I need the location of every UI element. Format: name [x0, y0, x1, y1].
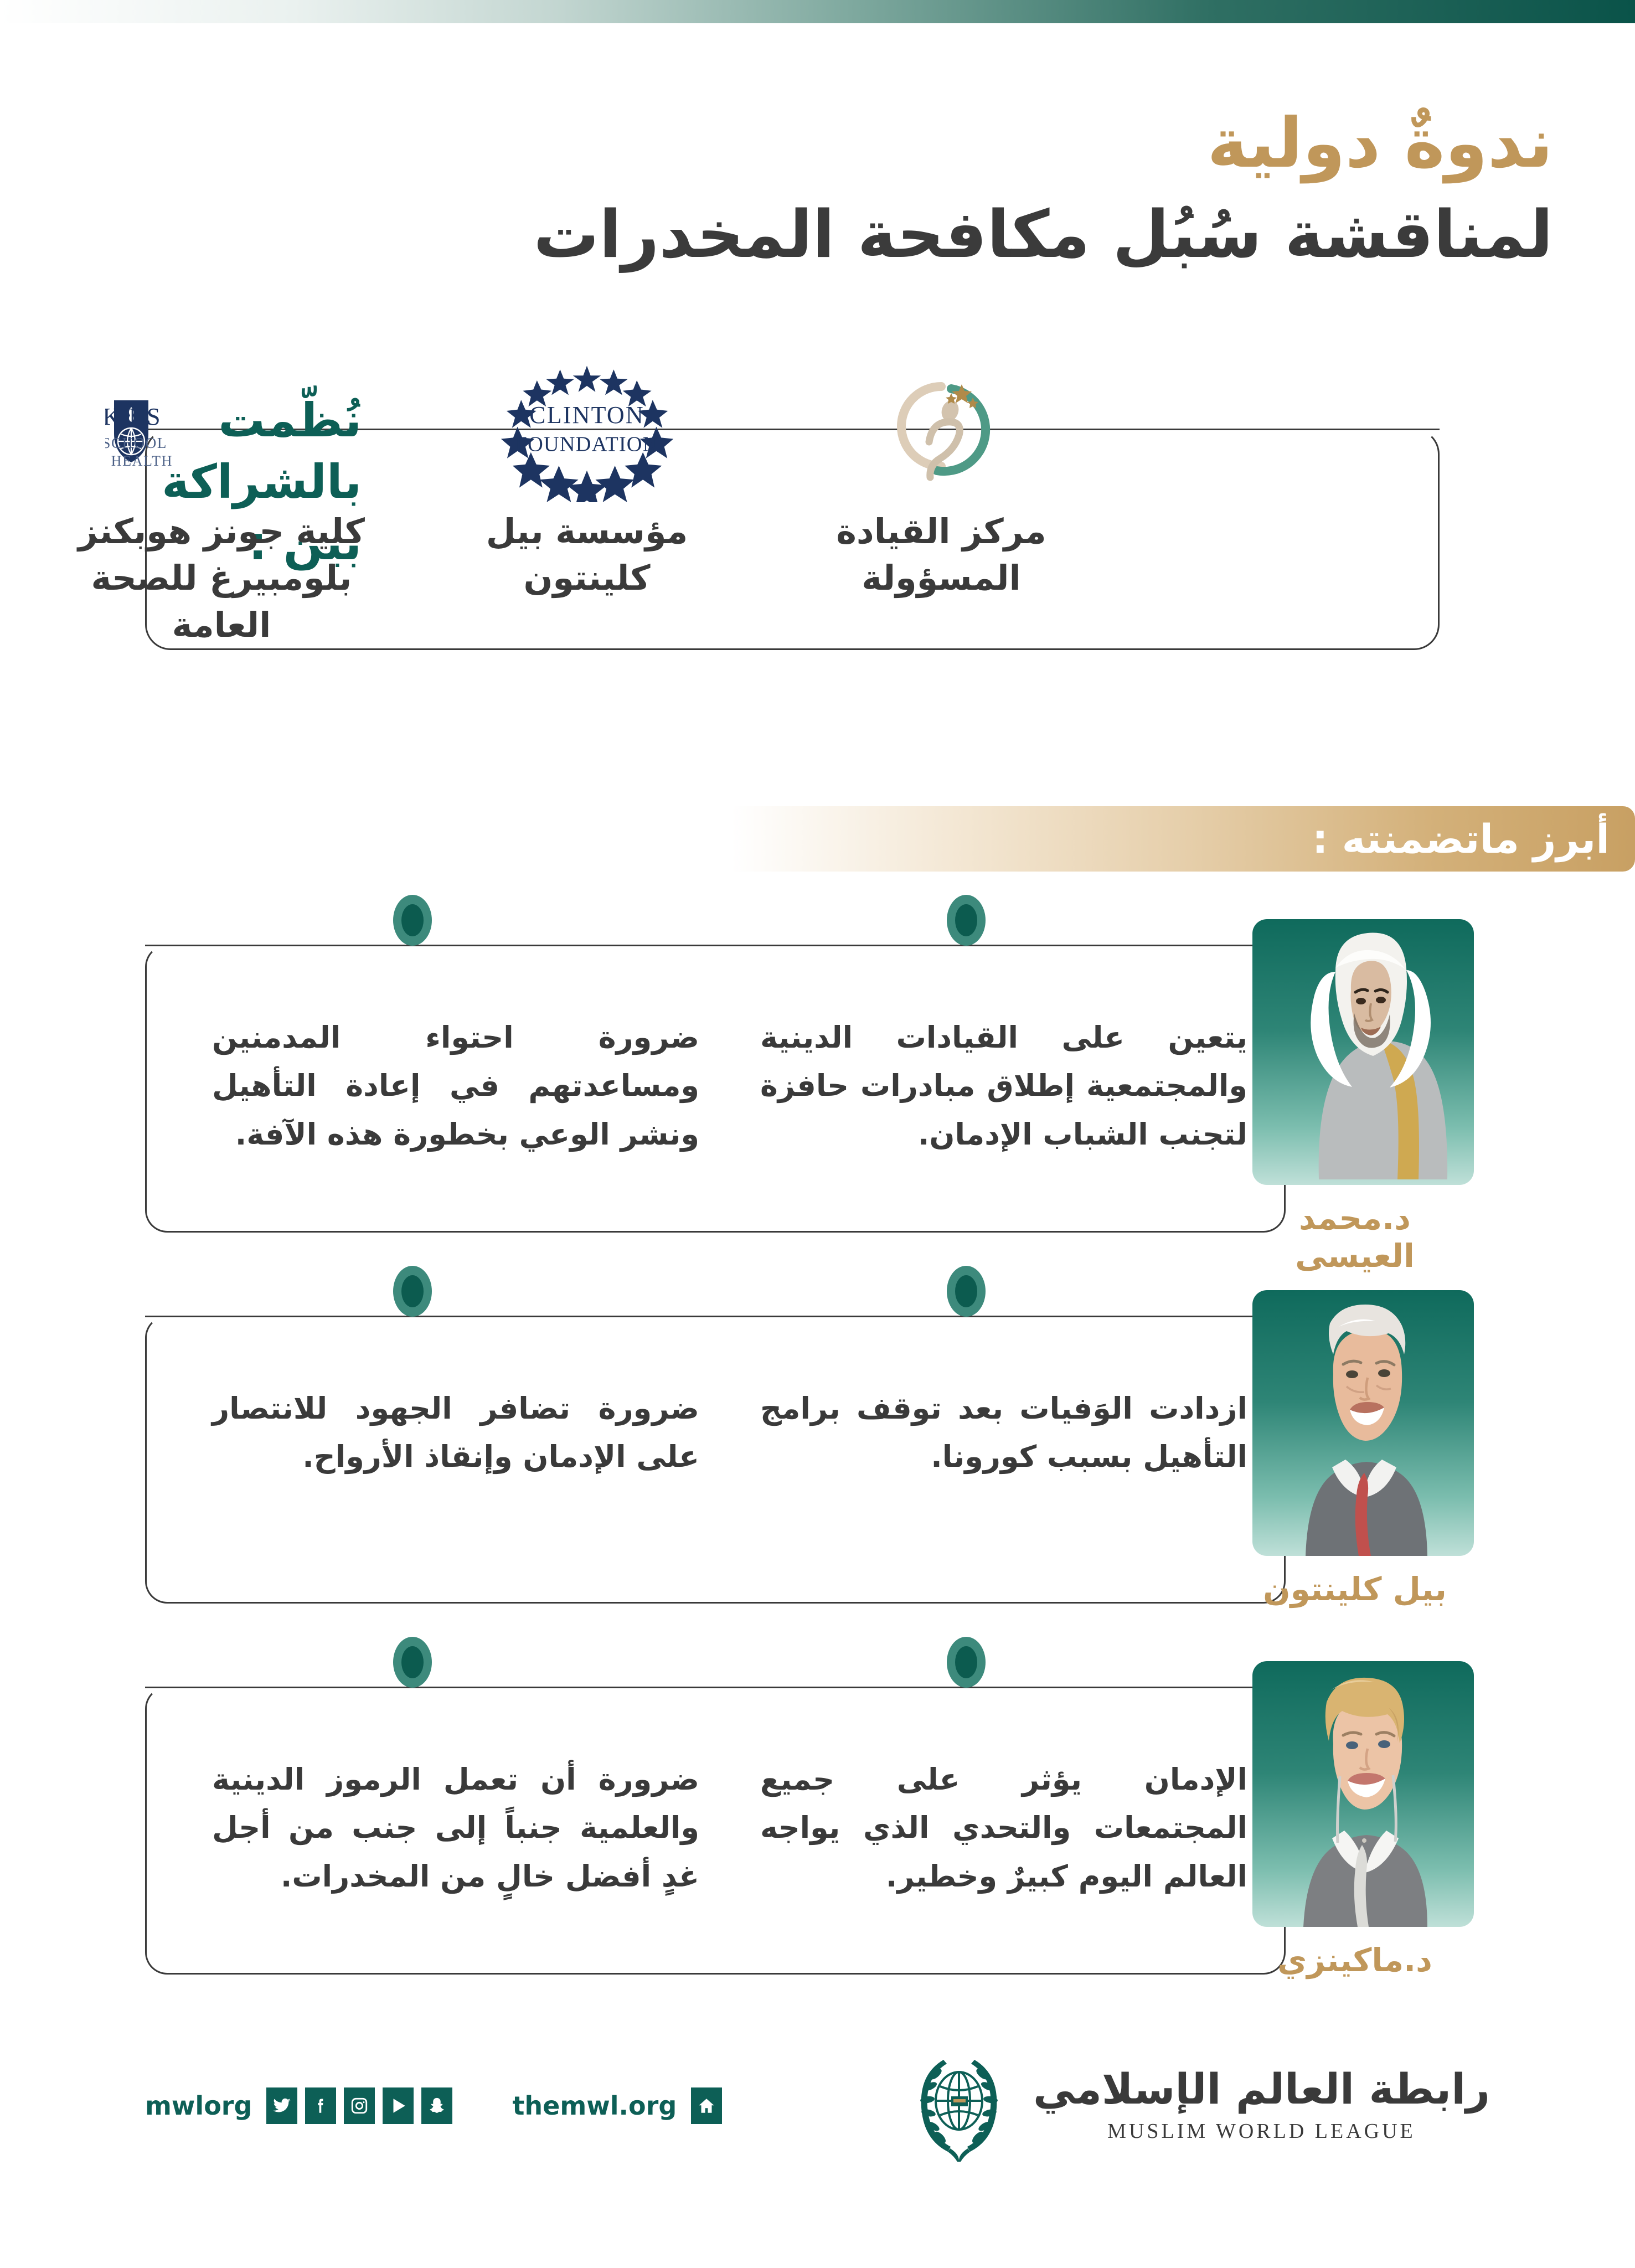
speaker-name: د.ماكينزي — [1236, 1941, 1474, 1979]
snapchat-icon[interactable] — [421, 2087, 452, 2124]
portrait-bill-clinton — [1252, 1290, 1474, 1556]
johns-hopkins-logo: JOHNS HOPKINS BLOOMBERG SCHOOL of PUBLIC… — [66, 382, 376, 482]
partner-clinton-foundation: CLINTON FOUNDATION مؤسسة بيل كلينتون — [432, 382, 742, 602]
mwl-name-arabic: رابطة العالم الإسلامي — [1033, 2064, 1490, 2114]
website-label: themwl.org — [512, 2091, 677, 2121]
section-banner: أبرز ماتضمنته : — [731, 806, 1635, 872]
speaker-portrait-block: د.ماكينزي — [1236, 1661, 1474, 1979]
portrait-dr-mackenzie — [1252, 1661, 1474, 1927]
quote-text-left: ضرورة تضافر الجهود للانتصار على الإدمان … — [212, 1384, 699, 1481]
mwl-name-english: MUSLIM WORLD LEAGUE — [1033, 2119, 1490, 2143]
partners-section: نُظّمت بالشراكة بين : مركز القيادة المسؤ… — [0, 382, 1635, 692]
speaker-portrait-block: بيل كلينتون — [1236, 1290, 1474, 1608]
twitter-icon[interactable] — [266, 2087, 297, 2124]
quote-text-right: ازدادت الوَفيات بعد توقف برامج التأهيل ب… — [760, 1384, 1247, 1481]
mwl-logo: رابطة العالم الإسلامي MUSLIM WORLD LEAGU… — [904, 2045, 1490, 2162]
partner-name: مؤسسة بيل كلينتون — [432, 508, 742, 602]
partner-johns-hopkins: JOHNS HOPKINS BLOOMBERG SCHOOL of PUBLIC… — [66, 382, 376, 648]
bullet-dot-left — [393, 1266, 432, 1317]
quote-text-left: ضرورة احتواء المدمنين ومساعدتهم في إعادة… — [212, 1013, 699, 1158]
speaker-portrait-block: د.محمد العيسى — [1236, 919, 1474, 1275]
speaker-row-1: يتعين على القيادات الدينية والمجتمعية إط… — [0, 919, 1635, 1274]
home-icon[interactable] — [691, 2087, 722, 2124]
bullet-dot-right — [947, 1637, 986, 1688]
speaker-name: د.محمد العيسى — [1236, 1199, 1474, 1275]
responsible-leadership-center-logo — [786, 382, 1096, 482]
bullet-dot-right — [947, 895, 986, 946]
quote-text-left: ضرورة أن تعمل الرموز الدينية والعلمية جن… — [212, 1755, 699, 1900]
section-banner-label: أبرز ماتضمنته : — [1312, 816, 1610, 862]
social-links: mwlorg themwl.org — [145, 2087, 722, 2124]
clinton-logo-line1: CLINTON — [529, 401, 644, 429]
page-title-secondary: لمناقشة سُبُل مكافحة المخدرات — [224, 195, 1553, 275]
instagram-icon[interactable] — [344, 2087, 375, 2124]
speaker-row-3: الإدمان يؤثر على جميع المجتمعات والتحدي … — [0, 1661, 1635, 2016]
partner-name: مركز القيادة المسؤولة — [786, 508, 1096, 602]
page-title-primary: ندوةٌ دولية — [556, 103, 1553, 184]
bullet-dot-left — [393, 895, 432, 946]
mwl-globe-wreath-emblem — [904, 2045, 1014, 2162]
jh-logo-line3: of PUBLIC HEALTH — [105, 453, 173, 469]
speaker-row-2: ازدادت الوَفيات بعد توقف برامج التأهيل ب… — [0, 1290, 1635, 1645]
youtube-icon[interactable] — [383, 2087, 414, 2124]
card-rail — [166, 1687, 1421, 1688]
card-rail — [166, 945, 1421, 946]
jh-logo-line1: JOHNS HOPKINS — [105, 403, 161, 430]
top-gradient-bar — [0, 0, 1635, 23]
partner-responsible-leadership: مركز القيادة المسؤولة — [786, 382, 1096, 602]
social-handle: mwlorg — [145, 2091, 252, 2121]
mwl-wordmark: رابطة العالم الإسلامي MUSLIM WORLD LEAGU… — [1033, 2064, 1490, 2143]
footer: mwlorg themwl.org رابطة العالم الإسلامي … — [0, 1999, 1635, 2231]
facebook-icon[interactable] — [305, 2087, 336, 2124]
quote-text-right: يتعين على القيادات الدينية والمجتمعية إط… — [760, 1013, 1247, 1158]
speaker-name: بيل كلينتون — [1236, 1570, 1474, 1608]
bullet-dot-right — [947, 1266, 986, 1317]
portrait-mohammed-alissa — [1252, 919, 1474, 1185]
bullet-dot-left — [393, 1637, 432, 1688]
clinton-foundation-logo: CLINTON FOUNDATION — [432, 382, 742, 482]
quote-text-right: الإدمان يؤثر على جميع المجتمعات والتحدي … — [760, 1755, 1247, 1900]
partner-name: كلية جونز هوبكنز بلومبيرغ للصحة العامة — [66, 508, 376, 648]
card-rail — [166, 1316, 1421, 1317]
clinton-logo-line2: FOUNDATION — [515, 432, 658, 456]
jh-logo-line2: BLOOMBERG SCHOOL — [105, 435, 167, 451]
